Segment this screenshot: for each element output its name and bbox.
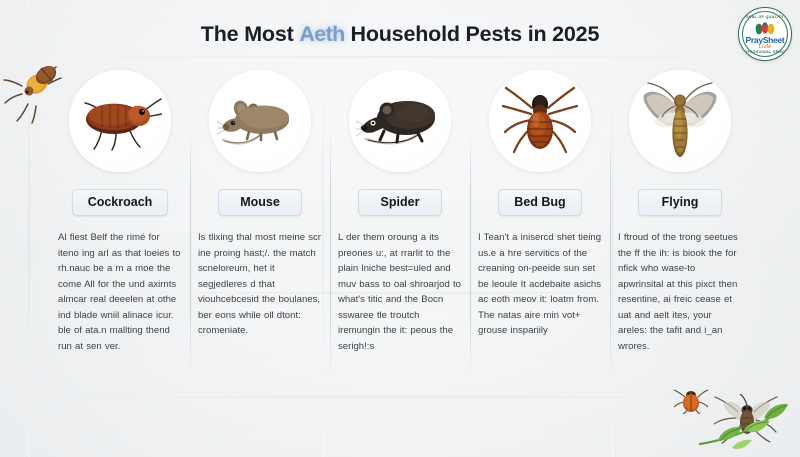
pest-icon-disc [629,70,731,172]
pest-card-mouse[interactable]: Mouse Is tlixing thal most meine scr ine… [190,70,330,354]
panel-seam-horizontal [0,56,800,58]
orange-bug-decoration-icon [674,388,708,419]
pest-icon-disc [209,70,311,172]
pest-description: I Tean't a inisercd shet tieing us.e a h… [478,230,602,339]
logo-arc-top-text: SEAL OF QUALITY [739,15,791,19]
logo-arc-bottom-text: PROFESSIONAL SERVICE [739,50,791,54]
title-bar: The Most Aeth Household Pests in 2025 [0,22,800,47]
pest-card-flying[interactable]: Flying I ftroud of the trong seetues the… [610,70,750,354]
mouse-icon [217,90,303,152]
title-prefix: The Most [201,22,300,46]
pest-icon-disc [69,70,171,172]
cockroach-icon [78,90,162,152]
title-smudged-word: Aeth [299,22,344,46]
poster-canvas: The Most Aeth Household Pests in 2025 SE… [0,0,800,457]
pest-icon-disc [489,70,591,172]
logo-badge[interactable]: SEAL OF QUALITY PraySheet Luile PROFESSI… [738,7,792,61]
logo-mark-icon [754,22,776,36]
pest-description: Is tlixing thal most meine scr ine proin… [198,230,322,339]
pest-description: Al fiest Belf the rimé for iteno ing arl… [58,230,182,354]
pest-label-spider[interactable]: Spider [358,189,442,216]
pest-icon-disc [349,70,451,172]
pest-card-spider[interactable]: Spider L der them oroung a its preones u… [330,70,470,354]
pest-label-cockroach[interactable]: Cockroach [72,189,169,216]
pest-label-bed-bug[interactable]: Bed Bug [498,189,582,216]
pest-label-flying[interactable]: Flying [638,189,722,216]
pest-description: I ftroud of the trong seetues the ff the… [618,230,742,354]
pest-card-cockroach[interactable]: Cockroach Al fiest Belf the rimé for ite… [50,70,190,354]
rat-icon [356,90,444,152]
title-suffix: Household Pests in 2025 [345,22,599,46]
pest-description: L der them oroung a its preones u:, at r… [338,230,462,354]
mosquito-decoration-icon [714,394,778,449]
flying-insect-icon [640,79,720,163]
bed-bug-icon [502,80,578,162]
green-leaves-decoration-icon [698,396,794,457]
panel-seam [28,0,30,457]
pest-card-bed-bug[interactable]: Bed Bug I Tean't a inisercd shet tieing … [470,70,610,354]
panel-seam-horizontal [0,396,800,398]
page-title: The Most Aeth Household Pests in 2025 [0,22,800,47]
pest-card-grid: Cockroach Al fiest Belf the rimé for ite… [50,70,750,354]
pest-label-mouse[interactable]: Mouse [218,189,302,216]
